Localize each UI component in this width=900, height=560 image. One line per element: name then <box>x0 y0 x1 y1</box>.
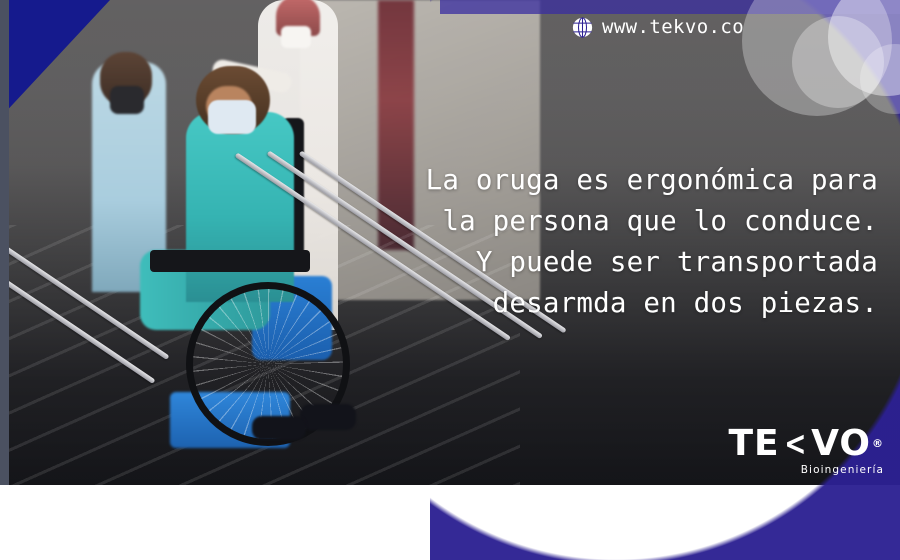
headline-line-3: Y puede ser transportada <box>390 242 878 283</box>
registered-trademark-icon: ® <box>872 438 884 449</box>
url-text: www.tekvo.co <box>602 16 744 38</box>
tekvo-logo[interactable]: TE < VO ® Bioingeniería <box>729 426 885 476</box>
promo-banner: > <box>0 0 900 18</box>
logo-part-1: TE <box>729 426 780 462</box>
logo-subtitle: Bioingeniería <box>729 465 885 476</box>
logo-wordmark: TE < VO ® <box>729 426 885 462</box>
corner-triangle <box>0 0 110 118</box>
website-url[interactable]: www.tekvo.co <box>572 16 744 38</box>
left-edge-strip <box>0 0 9 485</box>
headline-line-2: la persona que lo conduce. <box>390 201 878 242</box>
headline-line-4: desarmda en dos piezas. <box>390 283 878 324</box>
globe-icon <box>572 17 593 38</box>
headline-line-1: La oruga es ergonómica para <box>390 160 878 201</box>
headline-text: La oruga es ergonómica para la persona q… <box>390 160 878 324</box>
logo-part-2: VO <box>811 426 871 462</box>
logo-chevron-icon: < <box>784 427 807 461</box>
